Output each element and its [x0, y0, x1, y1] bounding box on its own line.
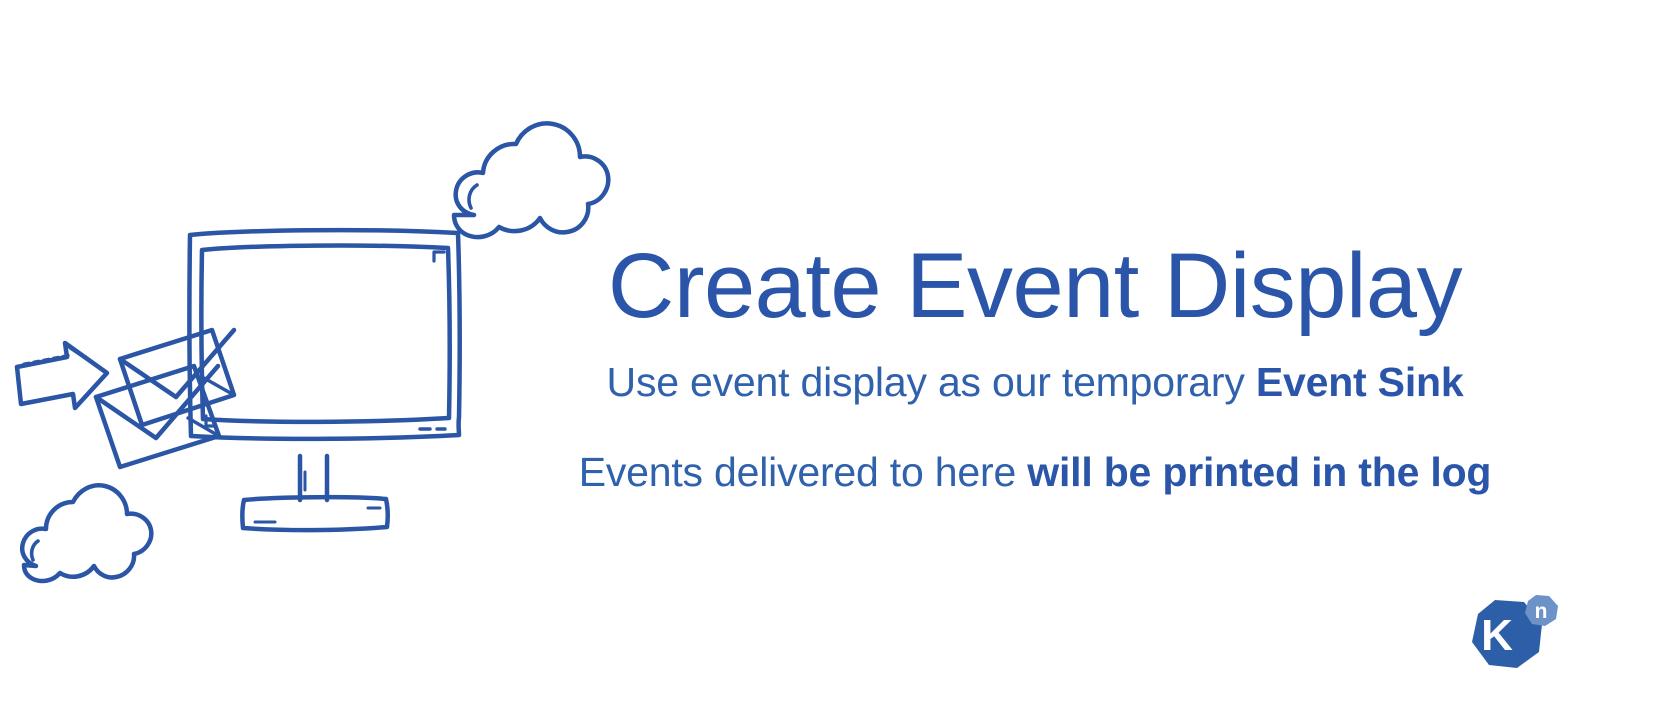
subtitle-2-prefix: Events delivered to here [579, 449, 1028, 495]
page-title: Create Event Display [530, 238, 1540, 335]
subtitle-1-prefix: Use event display as our temporary [607, 359, 1256, 405]
slide-root: Create Event Display Use event display a… [0, 0, 1658, 726]
knative-logo: K n [1448, 586, 1568, 696]
cloud-icon [22, 485, 151, 581]
slide-text-block: Create Event Display Use event display a… [530, 238, 1540, 497]
subtitle-line-1: Use event display as our temporary Event… [530, 357, 1540, 407]
subtitle-2-emphasis: will be printed in the log [1027, 449, 1491, 495]
subtitle-1-emphasis: Event Sink [1256, 359, 1464, 405]
arrow-icon [17, 343, 107, 408]
knative-logo-k-letter: K [1481, 611, 1513, 660]
knative-logo-n-letter: n [1535, 600, 1548, 623]
cloud-icon [454, 123, 608, 237]
envelope-icon [96, 366, 219, 467]
subtitle-line-2: Events delivered to here will be printed… [530, 447, 1540, 497]
